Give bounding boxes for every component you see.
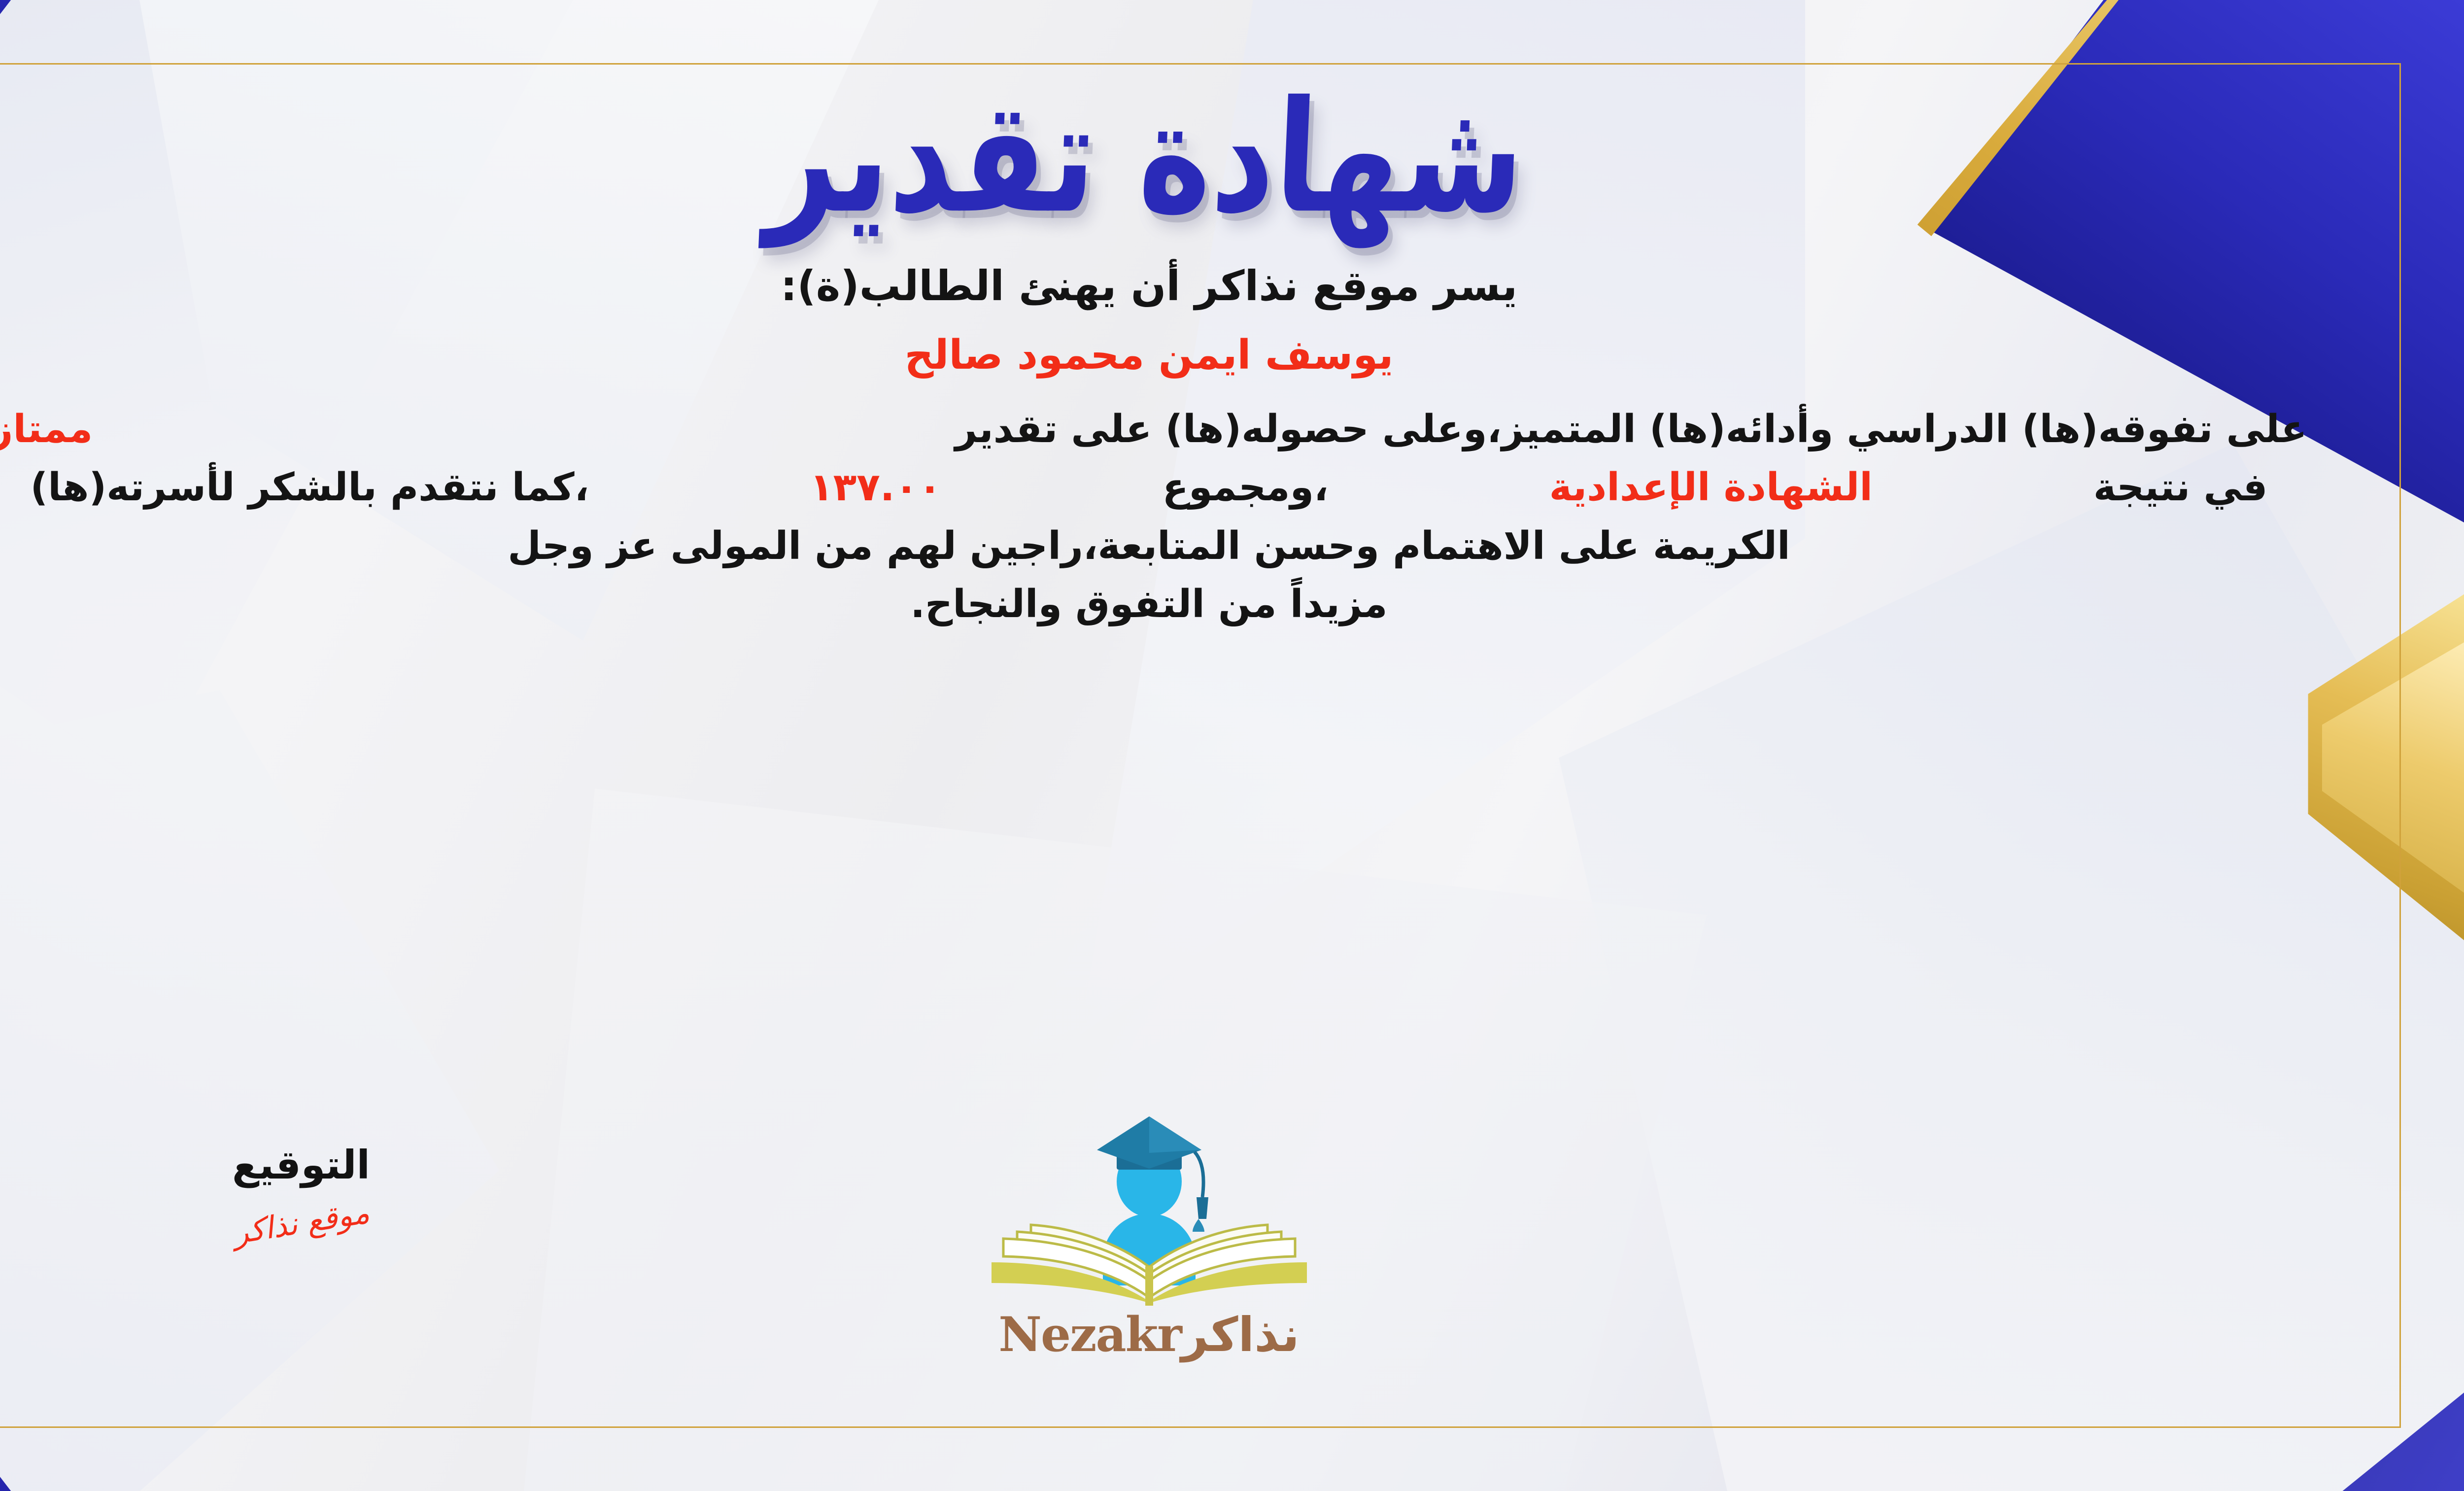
certificate-footer: التوقيع موقع نذاكر xyxy=(0,1103,2401,1408)
exam-name: الشهادة الإعدادية xyxy=(1549,458,1873,517)
intro-line: يسر موقع نذاكر أن يهنئ الطالب(ة): xyxy=(781,262,1517,310)
body-paragraph: على تفوقه(ها) الدراسي وأدائه(ها) المتميز… xyxy=(0,400,2307,634)
signature-label: التوقيع xyxy=(173,1142,429,1188)
total-score: ١٣٧.٠٠ xyxy=(810,458,942,517)
body-line-4: مزيداً من التفوق والنجاح. xyxy=(910,575,1387,634)
logo-latin: Nezakr xyxy=(998,1307,1181,1362)
body-line-1: على تفوقه(ها) الدراسي وأدائه(ها) المتميز… xyxy=(0,400,2307,459)
body-line-3: الكريمة على الاهتمام وحسن المتابعة،راجين… xyxy=(508,517,1790,576)
logo-wordmark: نذاكرNezakr xyxy=(962,1307,1336,1362)
body-line-1-text: على تفوقه(ها) الدراسي وأدائه(ها) المتميز… xyxy=(955,400,2307,459)
certificate-content: شهادة تقدير يسر موقع نذاكر أن يهنئ الطال… xyxy=(0,63,2401,1428)
body-line-2-suffix: ،كما نتقدم بالشكر لأسرته(ها) xyxy=(31,458,589,517)
body-line-2: في نتيجة الشهادة الإعدادية ،ومجموع ١٣٧.٠… xyxy=(31,458,2268,517)
signature-block: التوقيع موقع نذاكر xyxy=(173,1142,429,1241)
certificate-page: شهادة تقدير يسر موقع نذاكر أن يهنئ الطال… xyxy=(0,0,2464,1491)
signature-mark: موقع نذاكر xyxy=(231,1194,372,1251)
brand-logo: نذاكرNezakr xyxy=(962,1108,1336,1362)
certificate-title: شهادة تقدير xyxy=(764,77,1527,239)
grade-value: ممتاز xyxy=(0,400,93,459)
student-name: يوسف ايمن محمود صالح xyxy=(904,332,1393,379)
body-line-2-prefix: في نتيجة xyxy=(2093,458,2268,517)
logo-arabic: نذاكر xyxy=(1181,1307,1300,1362)
total-label: ،ومجموع xyxy=(1163,458,1329,517)
graduate-open-book-icon xyxy=(962,1108,1336,1310)
